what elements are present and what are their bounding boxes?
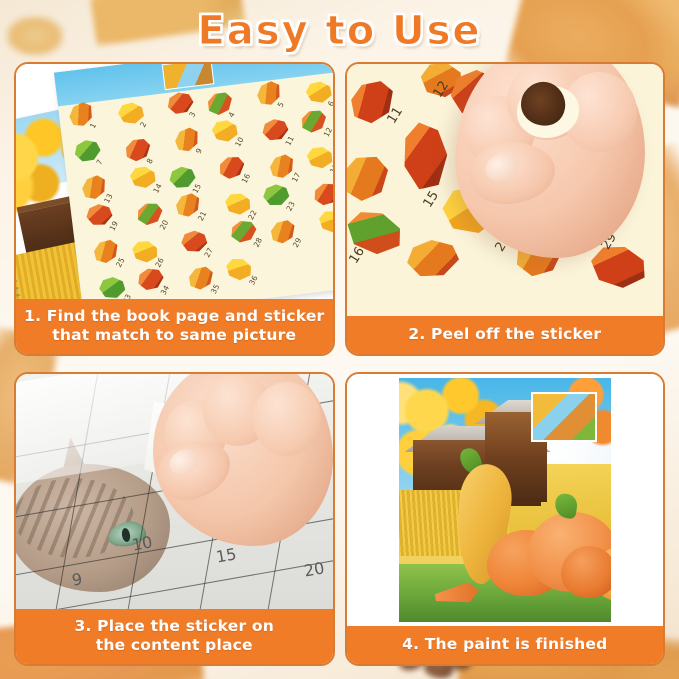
sticker-number: 22 bbox=[246, 209, 258, 222]
sticker-number: 34 bbox=[159, 284, 171, 297]
sticker-number: 11 bbox=[283, 135, 295, 148]
sticker-number: 17 bbox=[290, 171, 302, 184]
grid-number: 9 bbox=[70, 569, 83, 589]
sticker-number: 27 bbox=[202, 246, 214, 259]
sticker-number: 6 bbox=[326, 99, 333, 107]
step-3-caption: 3. Place the sticker on the content plac… bbox=[16, 609, 333, 664]
sticker-number: 9 bbox=[194, 147, 204, 155]
sticker-piece[interactable] bbox=[398, 119, 452, 191]
finger bbox=[253, 382, 321, 456]
sticker-number: 33 bbox=[121, 293, 133, 300]
grid-number: 20 bbox=[303, 558, 326, 580]
step-panel-2: 11121516222429 2. Peel off the sticker bbox=[345, 62, 666, 356]
step-panel-4: 4. The paint is finished bbox=[345, 372, 666, 666]
sticker-piece[interactable] bbox=[86, 204, 113, 226]
sticker-number: 2 bbox=[138, 120, 148, 128]
hand-icon bbox=[455, 64, 645, 258]
step-3-image: 91011151620 bbox=[16, 374, 333, 609]
sticker-number: 16 bbox=[240, 172, 252, 185]
sticker-number: 7 bbox=[94, 158, 104, 166]
poster-root: Easy to Use 1234567891011121314151617181… bbox=[0, 0, 679, 679]
sticker-piece[interactable] bbox=[170, 167, 196, 188]
step-1-image: 1234567891011121314151617181920212223242… bbox=[16, 64, 333, 299]
sticker-piece[interactable] bbox=[304, 143, 332, 171]
sticker-piece[interactable] bbox=[312, 181, 333, 207]
reference-thumbnail bbox=[531, 392, 597, 442]
step-4-caption: 4. The paint is finished bbox=[347, 626, 664, 664]
grid-number: 10 bbox=[131, 532, 154, 554]
sticker-number: 15 bbox=[191, 182, 203, 195]
sticker-number: 20 bbox=[158, 218, 170, 231]
step-4-image bbox=[347, 374, 664, 626]
sticker-number: 3 bbox=[187, 110, 197, 118]
sticker-number: 28 bbox=[252, 236, 264, 249]
sticker-piece[interactable] bbox=[262, 119, 289, 141]
sticker-number: 15 bbox=[420, 189, 441, 211]
page-title-text: Easy to Use bbox=[197, 8, 481, 54]
pumpkin bbox=[561, 546, 611, 598]
finished-artwork bbox=[399, 378, 612, 622]
grid-number: 15 bbox=[215, 544, 238, 566]
sticker-number: 13 bbox=[102, 192, 114, 205]
page-title: Easy to Use bbox=[0, 8, 679, 54]
steps-grid: 1234567891011121314151617181920212223242… bbox=[14, 62, 665, 666]
sticker-number: 12 bbox=[322, 126, 333, 139]
sticker-number: 14 bbox=[151, 182, 163, 195]
sticker-number: 35 bbox=[209, 283, 221, 296]
step-2-image: 11121516222429 bbox=[347, 64, 664, 316]
sticker-number: 26 bbox=[153, 256, 165, 269]
sticker-collection: 1234567891011121314151617181920212223242… bbox=[54, 64, 333, 299]
sticker-piece[interactable] bbox=[406, 240, 459, 277]
step-1-caption: 1. Find the book page and sticker that m… bbox=[16, 299, 333, 354]
sticker-number: 18 bbox=[328, 162, 332, 175]
sticker-number: 5 bbox=[276, 100, 286, 108]
sticker-number: 8 bbox=[145, 157, 155, 165]
sticker-piece[interactable] bbox=[316, 206, 333, 236]
step-panel-1: 1234567891011121314151617181920212223242… bbox=[14, 62, 335, 356]
sticker-number: 4 bbox=[227, 111, 237, 119]
sticker-number: 1 bbox=[88, 122, 98, 130]
sticker-sheet: 1234567891011121314151617181920212223242… bbox=[54, 64, 333, 299]
step-panel-3: 91011151620 3. Place the sticker on the … bbox=[14, 372, 335, 666]
sticker-number: 29 bbox=[291, 236, 303, 249]
sticker-piece[interactable] bbox=[347, 149, 395, 206]
sticker-number: 25 bbox=[114, 256, 126, 269]
step-2-caption: 2. Peel off the sticker bbox=[347, 316, 664, 354]
sticker-number: 19 bbox=[108, 220, 120, 233]
sticker-number: 23 bbox=[284, 200, 296, 213]
sticker-number: 10 bbox=[233, 136, 245, 149]
sticker-number: 21 bbox=[196, 210, 208, 223]
